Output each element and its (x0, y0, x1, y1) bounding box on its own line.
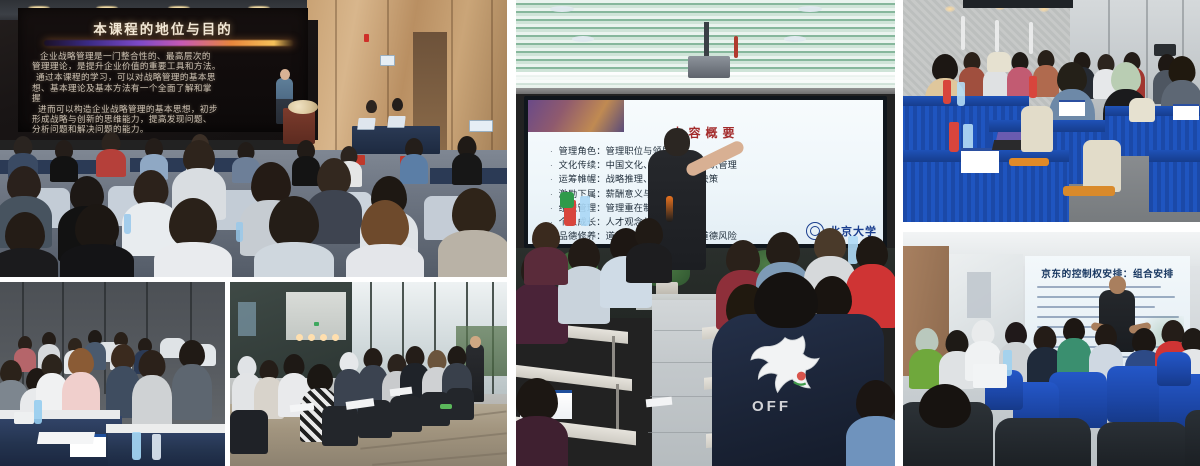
eagle-emblem-icon (748, 330, 822, 394)
attendee (452, 136, 482, 182)
bullet-marker: · (550, 203, 553, 214)
flower-arrangement (288, 100, 318, 114)
attendee (132, 350, 172, 430)
slide-title: 内容概要 (528, 124, 883, 141)
foreground-attendee-head (919, 384, 971, 428)
slide-body-line: 企业战略管理是一门整合性的、最高层次的 (40, 52, 211, 63)
photo-center-classroom[interactable]: 内容概要 ·管理角色：管理职位与领导风格 ·文化传续：中国文化、思维方式与组织管… (516, 0, 895, 466)
attendee (60, 204, 134, 277)
photo-classroom-blue-tables[interactable] (0, 282, 225, 466)
bullet-item: ·运筹帷幄：战略推理、问题解决与决策 (550, 174, 873, 185)
foreground-chair (1097, 422, 1189, 466)
foreground-chair (995, 418, 1091, 466)
photo-glass-room-rows[interactable] (230, 282, 507, 466)
photo-lecture-hall[interactable]: 本课程的地位与目的 企业战略管理是一门整合性的、最高层次的 管理理论，是提升企业… (0, 0, 507, 277)
foreground-attendee-head (754, 272, 818, 328)
attendee (438, 188, 507, 277)
slide-body-line: 形成战略与创新的思维能力，提高发现问题、 (32, 115, 212, 126)
bullet-item: ·组织管理：管理重在制度建设 (550, 203, 873, 214)
attendee (1057, 318, 1091, 376)
photo-seminar-blue-skirted-tables[interactable] (903, 0, 1200, 222)
slide-body-line: 通过本课程的学习，可以对战略管理的基本思 (36, 73, 216, 84)
slide-body-line: 握 (32, 94, 41, 105)
slide-body-line: 管理理论，是提升企业价值的重要工具和方法。 (32, 62, 221, 73)
sprinkler-head (734, 36, 738, 58)
slide-body-line: 想、基本理论及基本方法有一个全面了解和掌 (32, 84, 212, 95)
foreground-chair (1185, 410, 1200, 466)
attendee (96, 132, 126, 174)
slide-accent-bar (44, 40, 294, 46)
photo-collage: 本课程的地位与目的 企业战略管理是一门整合性的、最高层次的 管理理论，是提升企业… (0, 0, 1200, 466)
attendee (626, 218, 672, 280)
slide-body-line: 分析问题和解决问题的能力。 (32, 125, 149, 136)
presenter-head (1109, 276, 1126, 294)
attendee (516, 378, 568, 466)
bullet-marker: · (550, 189, 553, 200)
slide-title: 京东的控制权安排：组合安排 (1025, 266, 1190, 280)
bullet-marker: · (550, 146, 553, 157)
presenter-head (664, 128, 690, 156)
attendee (524, 222, 568, 282)
bullet-item: ·激励下属：薪酬意义与公平机制 (550, 189, 873, 200)
speaker-head (280, 69, 290, 80)
slide-body-line: 进而可以构造企业战略管理的基本思想，初步 (38, 105, 218, 116)
photo-jd-case-classroom[interactable]: 京东的控制权安排：组合安排 (903, 232, 1200, 466)
attendee (50, 140, 78, 180)
projector (688, 56, 730, 78)
jacket-text: OFF (752, 398, 791, 415)
attendee (346, 200, 424, 277)
bullet-marker: · (550, 160, 553, 171)
led-screen: 本课程的地位与目的 企业战略管理是一门整合性的、最高层次的 管理理论，是提升企业… (18, 8, 308, 132)
slide-title: 本课程的地位与目的 (18, 18, 308, 38)
attendee (0, 212, 58, 277)
attendee (172, 340, 212, 418)
attendee (846, 380, 895, 466)
attendee (154, 198, 232, 277)
bullet-marker: · (550, 174, 553, 185)
attendee (254, 196, 334, 277)
